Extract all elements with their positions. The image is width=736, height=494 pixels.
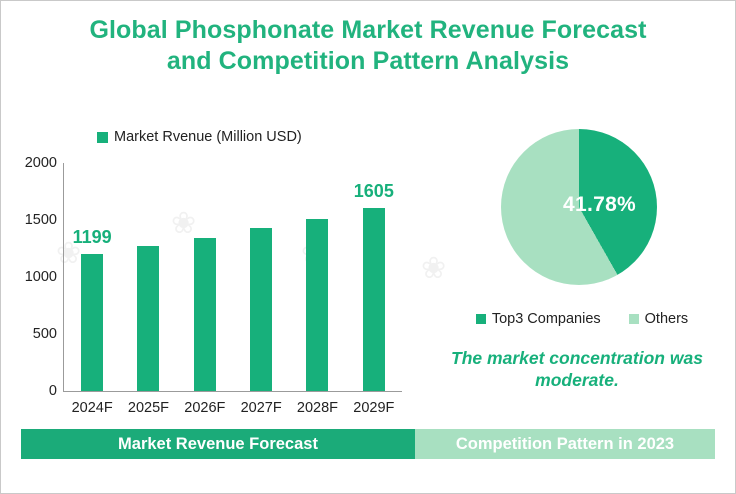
- pie-chart-note: The market concentration was moderate.: [427, 347, 727, 391]
- bar-group: 2026F: [177, 163, 233, 391]
- legend-swatch-icon: [97, 132, 108, 143]
- bar-value-label: 1199: [73, 227, 112, 248]
- bar-group: 11992024F: [64, 163, 120, 391]
- bar: [306, 219, 328, 391]
- footer-label-competition-pattern: Competition Pattern in 2023: [415, 429, 715, 459]
- x-axis-tick-label: 2027F: [241, 400, 282, 416]
- pie-legend-item-others: Others: [629, 311, 689, 327]
- x-axis-tick-label: 2025F: [128, 400, 169, 416]
- pie-legend-item-top3: Top3 Companies: [476, 311, 601, 327]
- page-title-line1: Global Phosphonate Market Revenue Foreca…: [1, 15, 735, 46]
- bar-value-label: 1605: [354, 181, 394, 202]
- bar-chart-legend: Market Rvenue (Million USD): [97, 129, 302, 145]
- bar-group: 2028F: [289, 163, 345, 391]
- y-axis-tick-label: 2000: [25, 155, 57, 171]
- bar-group: 2025F: [120, 163, 176, 391]
- page-title-line2: and Competition Pattern Analysis: [1, 46, 735, 77]
- bar-chart-panel: Market Rvenue (Million USD) 050010001500…: [1, 111, 417, 421]
- bar: [363, 208, 385, 391]
- y-axis-tick-label: 1500: [25, 212, 57, 228]
- y-axis-tick-label: 500: [33, 326, 57, 342]
- infographic-page: ❀ ❀ ❀ ❀ Global Phosphonate Market Revenu…: [0, 0, 736, 494]
- footer-bar: Market Revenue Forecast Competition Patt…: [21, 429, 715, 459]
- pie-chart-legend: Top3 Companies Others: [447, 311, 717, 327]
- x-axis-tick-label: 2029F: [353, 400, 394, 416]
- x-axis-tick-label: 2026F: [184, 400, 225, 416]
- pie-slice-value-label: 41.78%: [563, 193, 636, 217]
- bar-group: 2027F: [233, 163, 289, 391]
- page-title: Global Phosphonate Market Revenue Foreca…: [1, 15, 735, 77]
- pie-legend-label: Top3 Companies: [492, 311, 601, 327]
- bar: [81, 254, 103, 391]
- x-axis-tick-label: 2028F: [297, 400, 338, 416]
- legend-swatch-icon: [476, 314, 486, 324]
- bar-chart-plot-area: 050010001500200011992024F2025F2026F2027F…: [63, 163, 402, 392]
- y-axis-tick-label: 0: [49, 383, 57, 399]
- pie-legend-label: Others: [645, 311, 689, 327]
- bar-chart-legend-label: Market Rvenue (Million USD): [114, 129, 302, 145]
- bar: [137, 246, 159, 391]
- footer-label-market-revenue: Market Revenue Forecast: [21, 429, 415, 459]
- x-axis-tick-label: 2024F: [72, 400, 113, 416]
- legend-swatch-icon: [629, 314, 639, 324]
- bar: [194, 238, 216, 391]
- pie-chart-panel: 41.78% Top3 Companies Others The market …: [417, 111, 735, 421]
- bar-group: 16052029F: [346, 163, 402, 391]
- bar: [250, 228, 272, 391]
- y-axis-tick-label: 1000: [25, 269, 57, 285]
